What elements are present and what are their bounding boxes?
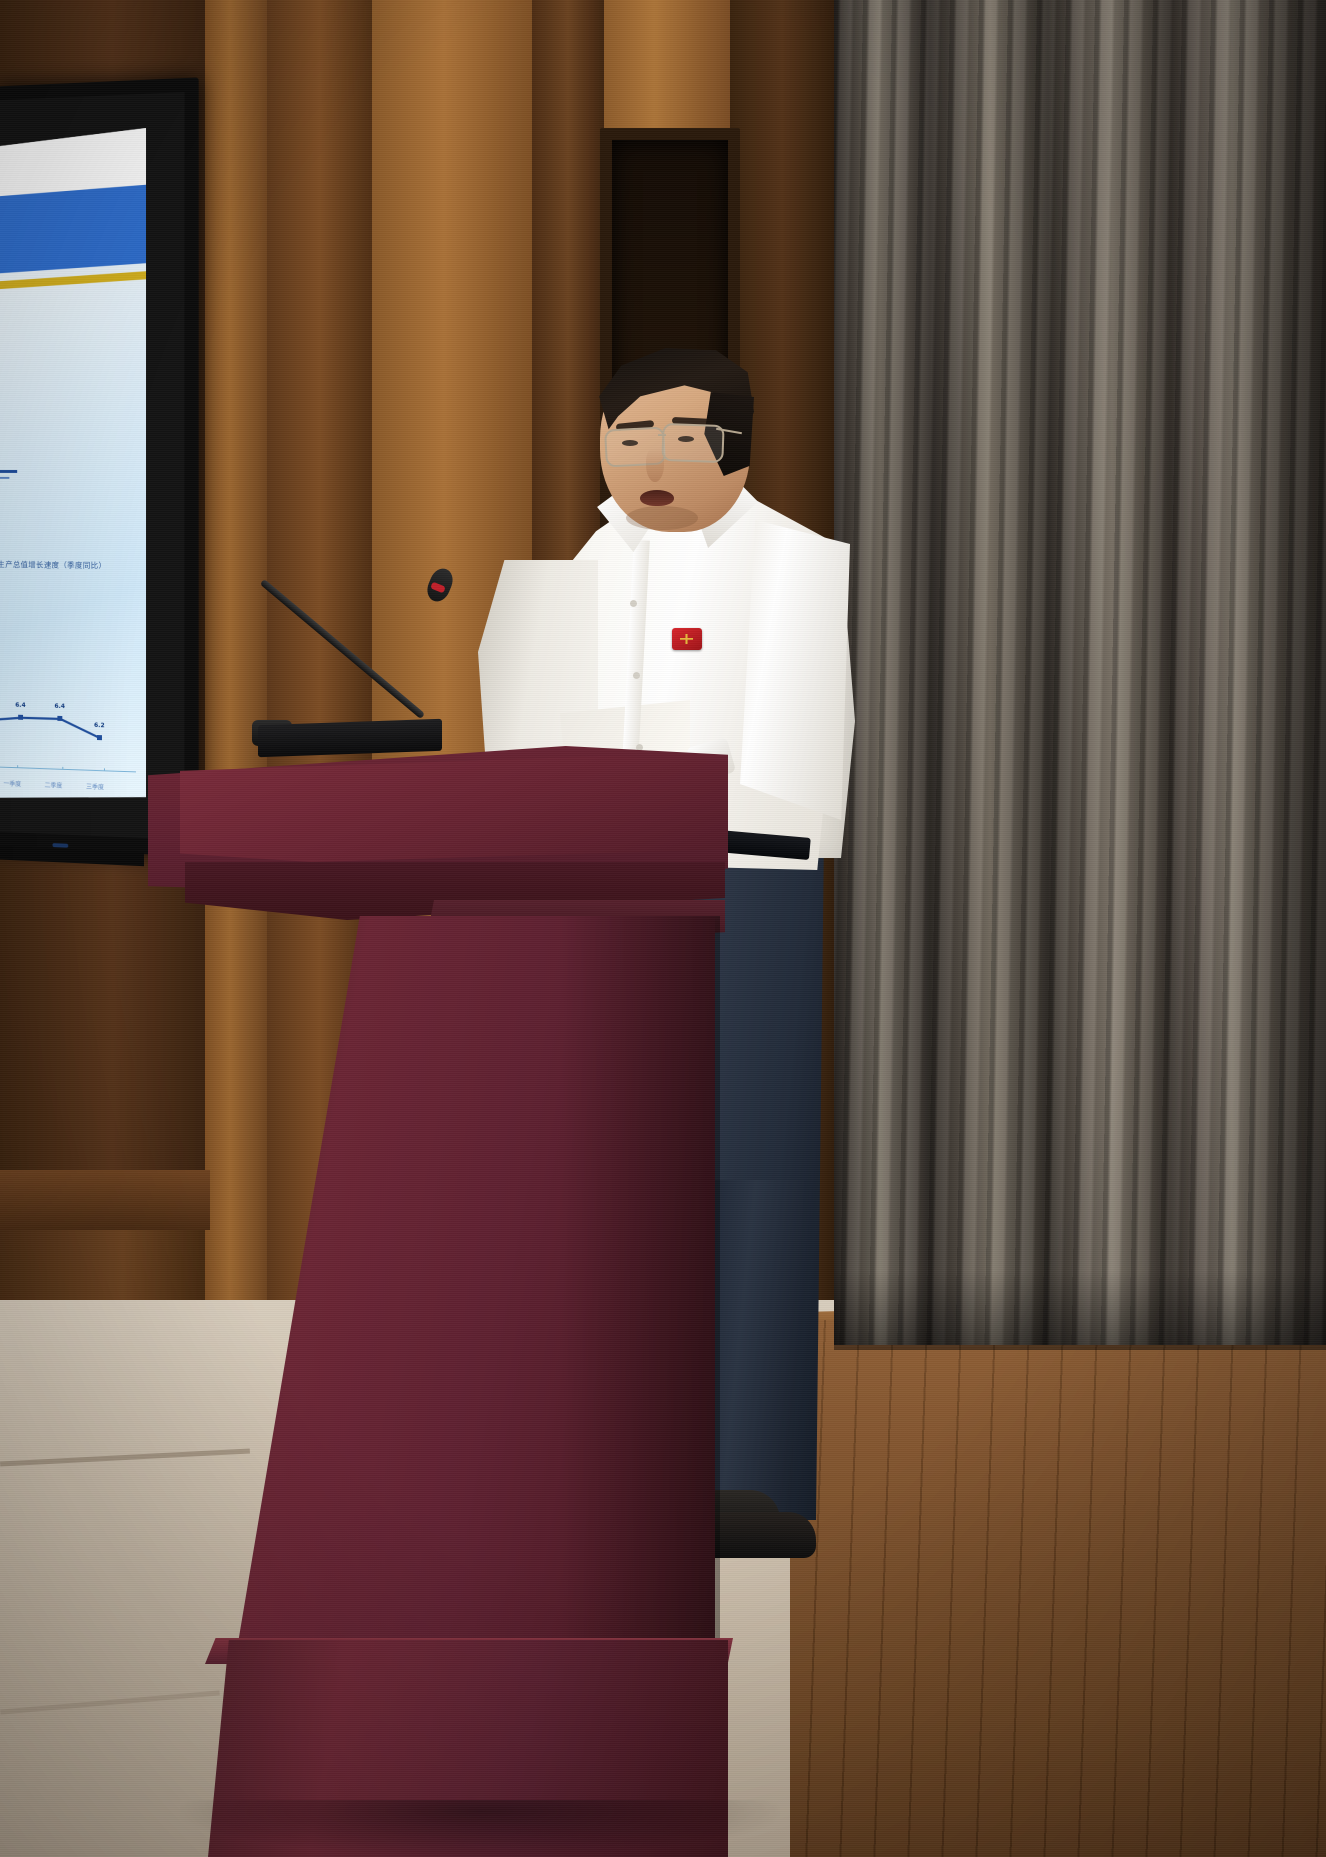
- lectern-top-face: [180, 756, 728, 862]
- shirt-button-1: [630, 600, 637, 607]
- speaker-nose: [646, 448, 664, 482]
- speaker-chin-shadow: [626, 506, 698, 530]
- speaker-sleeve-right: [740, 520, 850, 820]
- podium-monitor[interactable]: [258, 719, 442, 757]
- lectern-ground-shadow: [180, 1800, 780, 1857]
- lectern-column-shadow: [560, 916, 720, 1661]
- shirt-button-2: [633, 672, 640, 679]
- photo-scene: 国内生产总值增长速度（季度同比） 6.4 6.4 6.2 一季度 二季度 三季: [0, 0, 1326, 1857]
- speaker-mouth: [640, 490, 674, 506]
- eyeglasses-bridge: [658, 434, 666, 436]
